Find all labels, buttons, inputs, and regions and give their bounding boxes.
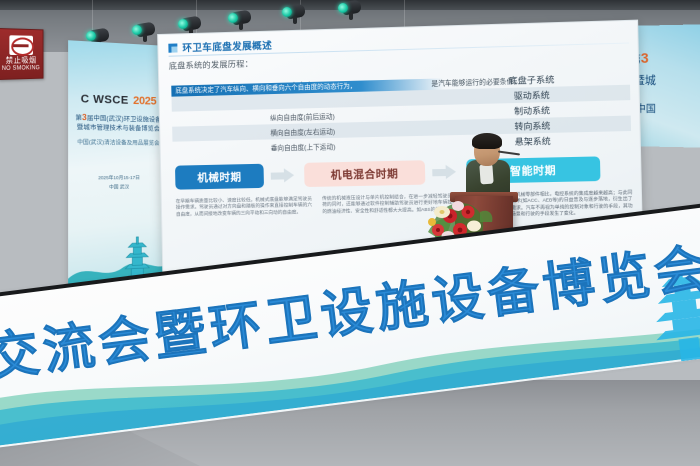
stage-box-mechanical: 机械时期 <box>175 164 264 190</box>
stage-light-icon <box>338 0 364 20</box>
stage-light-icon <box>282 2 308 24</box>
no-smoking-icon <box>9 35 33 55</box>
slide-text-columns: 在早期车辆质量比较小、速度比较低，机械式底盘能够满足驾驶员操作需求。驾驶员通过对… <box>176 190 633 225</box>
speaker-shirt <box>479 164 493 185</box>
cwsce-logo-text: C WSCE <box>81 93 129 107</box>
backdrop-left-city: 中国 武汉 <box>72 183 164 191</box>
arrow-right-icon <box>432 165 459 180</box>
backdrop-left-date: 2025年10月15-17日 <box>72 174 164 181</box>
event-backdrop-left: C WSCE 2025 第3届中国(武汉)环卫设施设备 暨城市管理技术与装备博览… <box>68 40 168 302</box>
line1-suffix: 届中国(武汉)环卫设施设备 <box>87 115 162 124</box>
timeline-stages: 机械时期 机电混合时期 智能时期 <box>175 156 630 190</box>
arrow-right-icon <box>271 168 298 183</box>
speaker-hair <box>472 133 502 149</box>
slide-column-text: 在早期车辆质量比较小、速度比较低，机械式底盘能够满足驾驶员操作需求。驾驶员通过对… <box>176 196 313 224</box>
no-smoking-label-en: NO SMOKING <box>2 65 40 73</box>
cwsce-logo-year: 2025 <box>133 95 156 108</box>
table-cell: 悬架系统 <box>435 131 631 151</box>
slide-ribbon-tail: 是汽车能够运行的必要条件。 <box>431 76 520 90</box>
slide-title: 环卫车底盘发展概述 <box>182 38 272 55</box>
cwsce-logo: C WSCE 2025 <box>77 89 161 110</box>
backdrop-left-line1: 第3届中国(武汉)环卫设施设备 <box>72 114 164 125</box>
br-line1-number: 3 <box>641 50 649 66</box>
stage-light-icon <box>228 8 254 30</box>
no-smoking-label-cn: 禁止吸烟 <box>6 56 37 65</box>
stage-light-icon <box>132 20 158 42</box>
title-bullet-icon <box>168 43 177 52</box>
backdrop-left-line2: 暨城市管理技术与装备博览会 <box>72 124 164 134</box>
no-smoking-sign: 禁止吸烟 NO SMOKING <box>0 28 43 80</box>
stage-box-electromechanical: 机电混合时期 <box>304 160 425 187</box>
conference-stage-photo: 禁止吸烟 NO SMOKING C WSCE 2025 <box>0 0 700 466</box>
backdrop-left-line3: 中国(武汉)清洁设备及用品展览会 <box>72 139 164 148</box>
